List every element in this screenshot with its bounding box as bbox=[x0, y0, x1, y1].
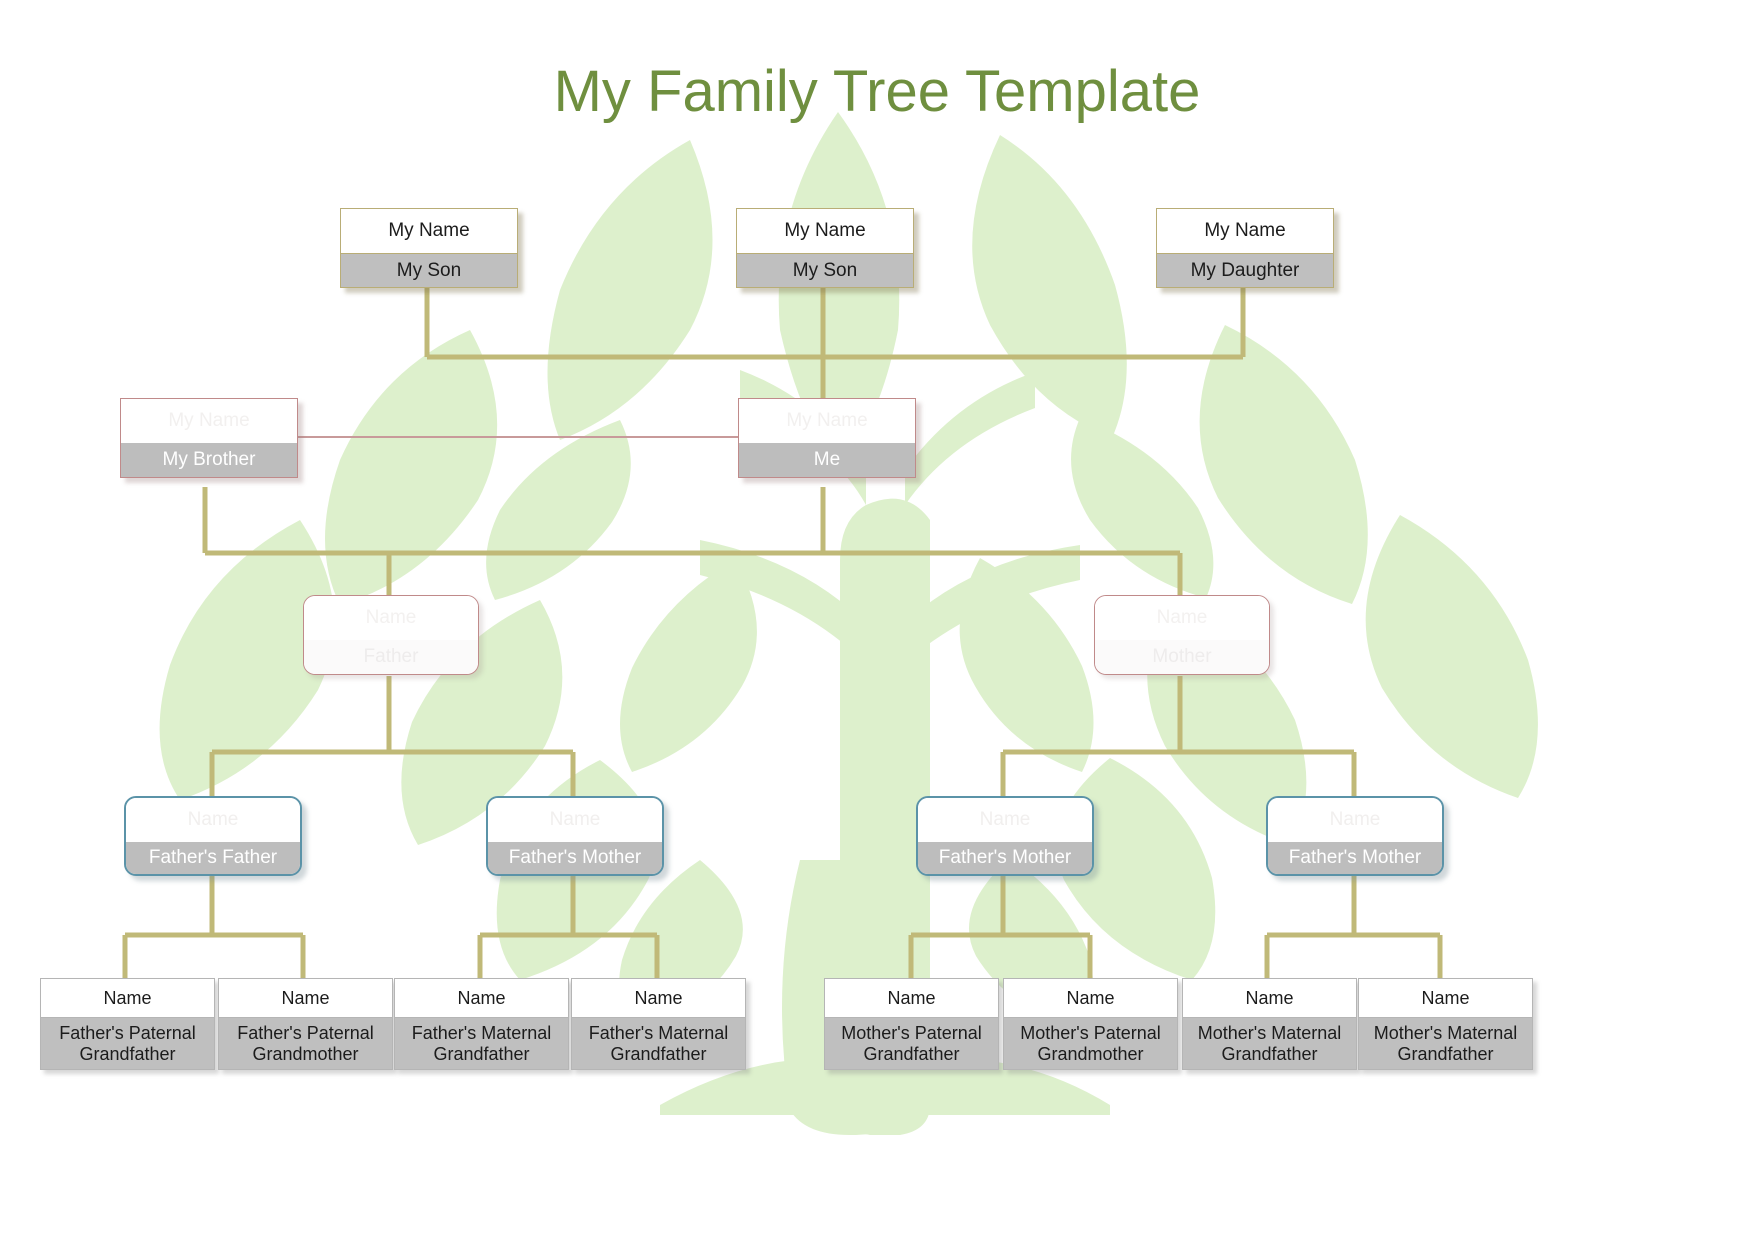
family-tree-canvas: My Family Tree Template My Name My Son M… bbox=[0, 0, 1754, 1240]
great-grandparent-6-name: Name bbox=[1004, 979, 1177, 1017]
child-2-relation: My Son bbox=[737, 253, 913, 287]
mother-relation: Mother bbox=[1095, 640, 1269, 674]
node-child-3[interactable]: My Name My Daughter bbox=[1156, 208, 1334, 288]
page-title: My Family Tree Template bbox=[0, 58, 1754, 125]
great-grandparent-1-name: Name bbox=[41, 979, 214, 1017]
great-grandparent-5-name: Name bbox=[825, 979, 998, 1017]
grandparent-1-relation: Father's Father bbox=[126, 842, 300, 874]
father-name: Name bbox=[304, 596, 478, 640]
great-grandparent-7-relation: Mother's Maternal Grandfather bbox=[1183, 1017, 1356, 1069]
node-child-1[interactable]: My Name My Son bbox=[340, 208, 518, 288]
node-child-2[interactable]: My Name My Son bbox=[736, 208, 914, 288]
great-grandparent-5-relation: Mother's Paternal Grandfather bbox=[825, 1017, 998, 1069]
node-grandparent-2[interactable]: Name Father's Mother bbox=[486, 796, 664, 876]
great-grandparent-6-relation-line2: Grandmother bbox=[1037, 1044, 1143, 1064]
node-mother[interactable]: Name Mother bbox=[1094, 595, 1270, 675]
great-grandparent-8-relation-line2: Grandfather bbox=[1397, 1044, 1493, 1064]
node-great-grandparent-4[interactable]: Name Father's Maternal Grandfather bbox=[571, 978, 746, 1070]
node-grandparent-4[interactable]: Name Father's Mother bbox=[1266, 796, 1444, 876]
node-great-grandparent-1[interactable]: Name Father's Paternal Grandfather bbox=[40, 978, 215, 1070]
me-name: My Name bbox=[739, 399, 915, 443]
my-brother-relation: My Brother bbox=[121, 443, 297, 477]
node-my-brother[interactable]: My Name My Brother bbox=[120, 398, 298, 478]
grandparent-3-name: Name bbox=[918, 798, 1092, 842]
father-relation: Father bbox=[304, 640, 478, 674]
child-3-relation: My Daughter bbox=[1157, 253, 1333, 287]
node-great-grandparent-5[interactable]: Name Mother's Paternal Grandfather bbox=[824, 978, 999, 1070]
great-grandparent-3-relation-line1: Father's Maternal bbox=[412, 1023, 552, 1043]
great-grandparent-7-name: Name bbox=[1183, 979, 1356, 1017]
great-grandparent-7-relation-line2: Grandfather bbox=[1221, 1044, 1317, 1064]
grandparent-4-name: Name bbox=[1268, 798, 1442, 842]
great-grandparent-2-name: Name bbox=[219, 979, 392, 1017]
great-grandparent-8-relation: Mother's Maternal Grandfather bbox=[1359, 1017, 1532, 1069]
grandparent-4-relation: Father's Mother bbox=[1268, 842, 1442, 874]
great-grandparent-3-relation: Father's Maternal Grandfather bbox=[395, 1017, 568, 1069]
node-father[interactable]: Name Father bbox=[303, 595, 479, 675]
great-grandparent-4-name: Name bbox=[572, 979, 745, 1017]
great-grandparent-1-relation: Father's Paternal Grandfather bbox=[41, 1017, 214, 1069]
great-grandparent-4-relation-line1: Father's Maternal bbox=[589, 1023, 729, 1043]
node-great-grandparent-6[interactable]: Name Mother's Paternal Grandmother bbox=[1003, 978, 1178, 1070]
great-grandparent-6-relation-line1: Mother's Paternal bbox=[1020, 1023, 1161, 1043]
child-2-name: My Name bbox=[737, 209, 913, 253]
node-great-grandparent-2[interactable]: Name Father's Paternal Grandmother bbox=[218, 978, 393, 1070]
my-brother-name: My Name bbox=[121, 399, 297, 443]
great-grandparent-2-relation-line1: Father's Paternal bbox=[237, 1023, 374, 1043]
node-great-grandparent-8[interactable]: Name Mother's Maternal Grandfather bbox=[1358, 978, 1533, 1070]
great-grandparent-8-name: Name bbox=[1359, 979, 1532, 1017]
great-grandparent-4-relation: Father's Maternal Grandfather bbox=[572, 1017, 745, 1069]
great-grandparent-3-name: Name bbox=[395, 979, 568, 1017]
great-grandparent-5-relation-line2: Grandfather bbox=[863, 1044, 959, 1064]
node-grandparent-3[interactable]: Name Father's Mother bbox=[916, 796, 1094, 876]
grandparent-3-relation: Father's Mother bbox=[918, 842, 1092, 874]
child-1-relation: My Son bbox=[341, 253, 517, 287]
great-grandparent-1-relation-line2: Grandfather bbox=[79, 1044, 175, 1064]
great-grandparent-2-relation-line2: Grandmother bbox=[252, 1044, 358, 1064]
child-3-name: My Name bbox=[1157, 209, 1333, 253]
great-grandparent-7-relation-line1: Mother's Maternal bbox=[1198, 1023, 1342, 1043]
great-grandparent-5-relation-line1: Mother's Paternal bbox=[841, 1023, 982, 1043]
great-grandparent-6-relation: Mother's Paternal Grandmother bbox=[1004, 1017, 1177, 1069]
grandparent-2-relation: Father's Mother bbox=[488, 842, 662, 874]
mother-name: Name bbox=[1095, 596, 1269, 640]
me-relation: Me bbox=[739, 443, 915, 477]
great-grandparent-2-relation: Father's Paternal Grandmother bbox=[219, 1017, 392, 1069]
great-grandparent-3-relation-line2: Grandfather bbox=[433, 1044, 529, 1064]
child-1-name: My Name bbox=[341, 209, 517, 253]
great-grandparent-4-relation-line2: Grandfather bbox=[610, 1044, 706, 1064]
node-great-grandparent-7[interactable]: Name Mother's Maternal Grandfather bbox=[1182, 978, 1357, 1070]
node-me[interactable]: My Name Me bbox=[738, 398, 916, 478]
grandparent-1-name: Name bbox=[126, 798, 300, 842]
node-great-grandparent-3[interactable]: Name Father's Maternal Grandfather bbox=[394, 978, 569, 1070]
great-grandparent-1-relation-line1: Father's Paternal bbox=[59, 1023, 196, 1043]
node-grandparent-1[interactable]: Name Father's Father bbox=[124, 796, 302, 876]
great-grandparent-8-relation-line1: Mother's Maternal bbox=[1374, 1023, 1518, 1043]
grandparent-2-name: Name bbox=[488, 798, 662, 842]
